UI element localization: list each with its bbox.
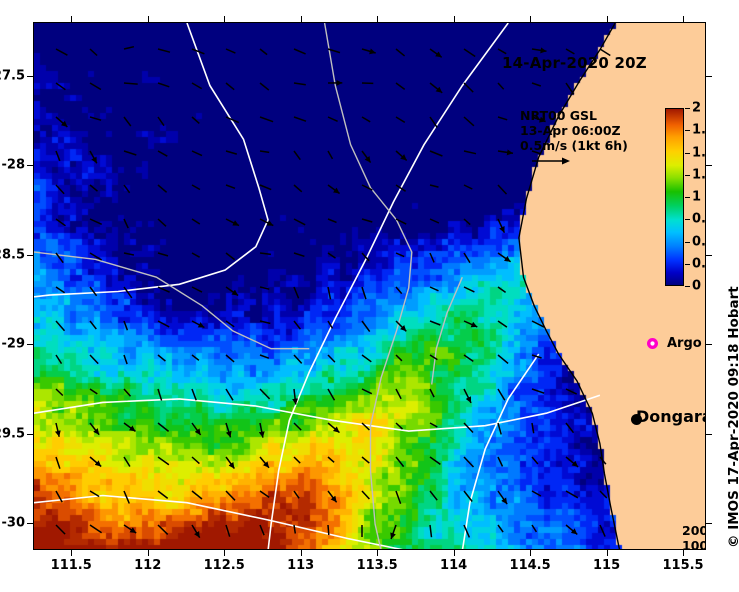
x-tick [377, 16, 378, 22]
x-tick [607, 16, 608, 22]
y-tick-label: -28 [2, 158, 26, 173]
argo-label: Argo [667, 336, 702, 351]
x-tick-label: 113 [287, 558, 314, 573]
x-tick [683, 550, 684, 556]
colorbar-tick-label: 0 [692, 279, 701, 294]
y-tick [27, 434, 33, 435]
x-tick [71, 16, 72, 22]
colorbar-tick [685, 108, 690, 109]
x-tick-label: 112 [134, 558, 161, 573]
y-tick-label: -28.5 [0, 247, 25, 262]
colorbar-tick [685, 264, 690, 265]
colorbar-tick-label: 0.75 [692, 212, 706, 227]
colorbar-tick-label: 0.25 [692, 256, 706, 271]
x-tick [301, 550, 302, 556]
y-tick [27, 165, 33, 166]
x-tick [607, 550, 608, 556]
y-tick-label: -30 [2, 516, 26, 531]
x-tick-label: 114.5 [510, 558, 551, 573]
y-tick [706, 523, 712, 524]
annotation-line-1: NRT00 GSL [520, 108, 628, 123]
y-tick [706, 344, 712, 345]
map-title: 14-Apr-2020 20Z [502, 54, 647, 72]
x-tick-label: 115.5 [662, 558, 703, 573]
x-tick [148, 550, 149, 556]
x-tick-label: 111.5 [51, 558, 92, 573]
x-tick [148, 16, 149, 22]
coastline [34, 23, 706, 550]
depth-legend-1000m: 1000m [682, 538, 706, 550]
y-tick [27, 523, 33, 524]
colorbar-tick [685, 153, 690, 154]
annotation-line-3: 0.5m/s (1kt 6h) [520, 138, 628, 153]
y-tick [27, 255, 33, 256]
colorbar-tick [685, 197, 690, 198]
y-tick-label: -29 [2, 337, 26, 352]
y-tick [706, 434, 712, 435]
x-tick-label: 112.5 [204, 558, 245, 573]
colorbar-tick-label: 0.5 [692, 234, 706, 249]
colorbar-tick [685, 242, 690, 243]
x-tick [683, 16, 684, 22]
colorbar-tick-label: 1.25 [692, 167, 706, 182]
x-tick [530, 550, 531, 556]
figure-canvas: 14-Apr-2020 20Z NRT00 GSL 13-Apr 06:00Z … [0, 0, 739, 592]
argo-marker[interactable] [646, 337, 659, 350]
y-tick [706, 165, 712, 166]
dongara-label: Dongara [636, 407, 706, 426]
colorbar-tick-label: 1.5 [692, 145, 706, 160]
colorbar-tick [685, 286, 690, 287]
x-tick-label: 115 [593, 558, 620, 573]
colorbar-tick [685, 130, 690, 131]
depth-contour-legend: 200m 1000m [682, 523, 706, 550]
y-tick [706, 255, 712, 256]
x-tick-label: 114 [440, 558, 467, 573]
current-annotation: NRT00 GSL 13-Apr 06:00Z 0.5m/s (1kt 6h) [520, 108, 628, 153]
x-tick [224, 16, 225, 22]
y-tick-label: -27.5 [0, 68, 25, 83]
map-plot-area[interactable]: 14-Apr-2020 20Z NRT00 GSL 13-Apr 06:00Z … [33, 22, 706, 550]
colorbar-tick-label: 1 [692, 190, 701, 205]
colorbar-tick-label: 2 [692, 101, 701, 116]
x-tick [377, 550, 378, 556]
colorbar-tick [685, 219, 690, 220]
credit-text: © IMOS 17-Apr-2020 09:18 Hobart [726, 286, 739, 548]
y-tick [27, 344, 33, 345]
y-tick [27, 76, 33, 77]
y-tick-label: -29.5 [0, 426, 25, 441]
x-tick [530, 16, 531, 22]
x-tick-label: 113.5 [357, 558, 398, 573]
right-arrow-icon [531, 156, 571, 166]
colorbar-gradient [665, 108, 684, 286]
x-tick [224, 550, 225, 556]
x-tick [454, 550, 455, 556]
colorbar-tick-label: 1.75 [692, 123, 706, 138]
depth-legend-200m: 200m [682, 523, 706, 538]
colorbar-tick [685, 175, 690, 176]
x-tick [71, 550, 72, 556]
annotation-line-2: 13-Apr 06:00Z [520, 123, 628, 138]
y-tick [706, 76, 712, 77]
x-tick [454, 16, 455, 22]
x-tick [301, 16, 302, 22]
